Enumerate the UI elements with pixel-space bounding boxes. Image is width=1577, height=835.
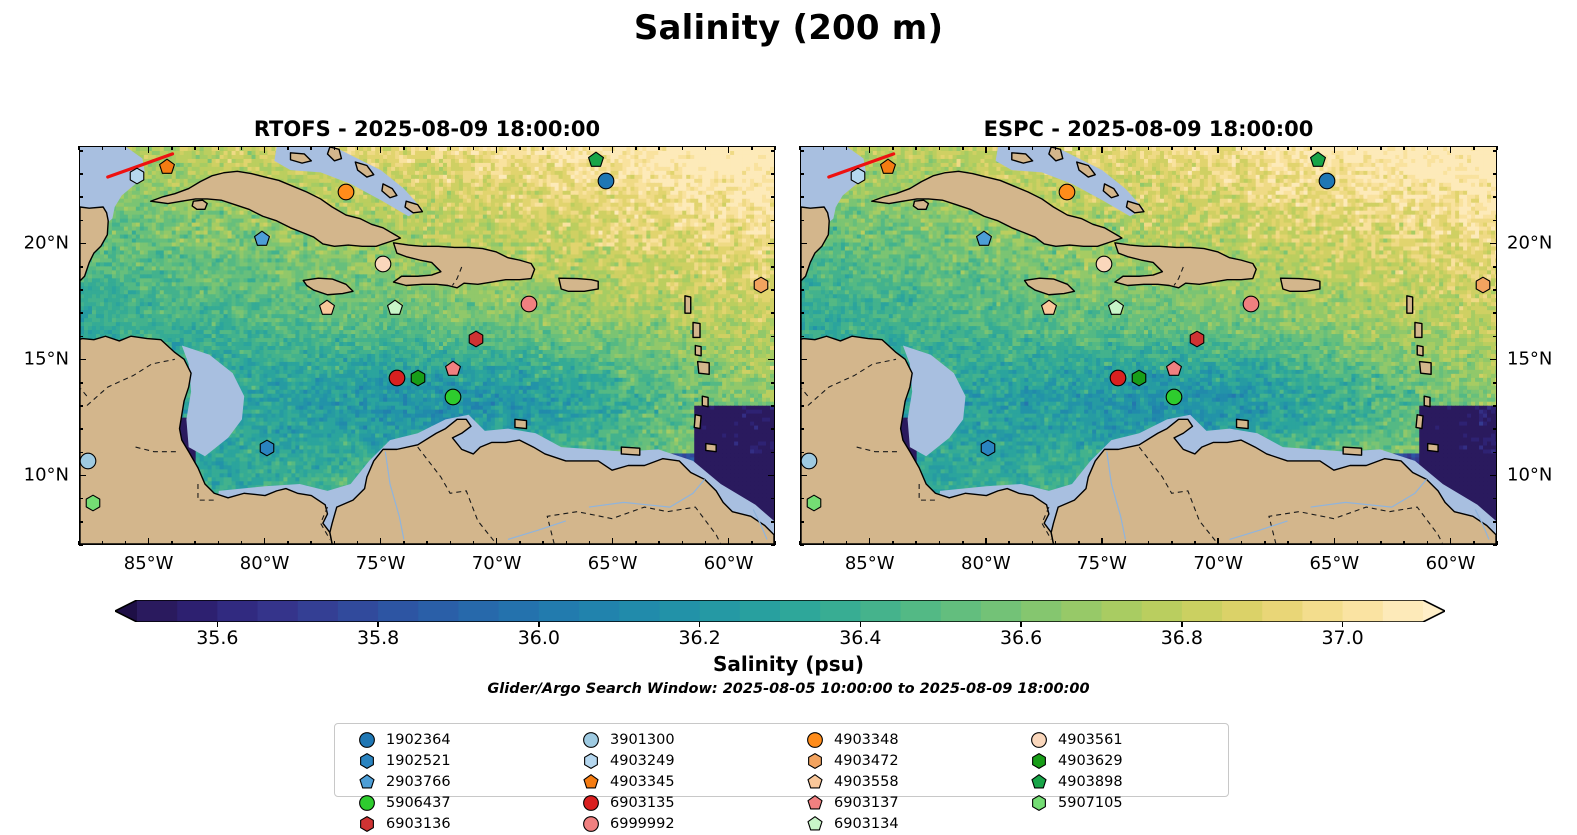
- lat-minor-tick: [79, 382, 83, 384]
- legend-label: 6903134: [834, 817, 899, 832]
- float-marker-6903136[interactable]: [1189, 330, 1206, 347]
- legend-label: 4903561: [1058, 733, 1123, 748]
- lon-minor-tick: [102, 146, 104, 150]
- float-marker-6999992[interactable]: [521, 295, 538, 312]
- lon-minor-tick: [1403, 541, 1405, 545]
- legend-label: 4903472: [834, 754, 899, 769]
- lon-tick: [1217, 538, 1219, 545]
- lon-minor-tick: [473, 146, 475, 150]
- panel-title-rtofs: RTOFS - 2025-08-09 18:00:00: [79, 117, 775, 141]
- lon-tick-label: 75°W: [1077, 553, 1127, 574]
- legend-label: 6903137: [834, 796, 899, 811]
- lat-minor-tick: [1493, 312, 1497, 314]
- lat-minor-tick: [79, 220, 83, 222]
- lon-minor-tick: [125, 146, 127, 150]
- lon-minor-tick: [125, 541, 127, 545]
- lat-minor-tick: [800, 544, 804, 546]
- lon-minor-tick: [310, 541, 312, 545]
- float-marker-4903249[interactable]: [850, 168, 867, 185]
- lon-tick: [380, 538, 382, 545]
- lat-minor-tick: [79, 428, 83, 430]
- lon-tick: [985, 538, 987, 545]
- lat-minor-tick: [1493, 196, 1497, 198]
- lat-minor-tick: [800, 220, 804, 222]
- legend-item-6903135[interactable]: 6903135: [569, 795, 793, 813]
- lon-tick: [496, 146, 498, 153]
- colorbar-label: Salinity (psu): [0, 652, 1577, 676]
- lon-minor-tick: [1403, 146, 1405, 150]
- lon-tick: [496, 538, 498, 545]
- legend-marker-circle-icon: [583, 816, 601, 834]
- legend-marker-hexagon-icon: [359, 816, 377, 834]
- lon-minor-tick: [218, 541, 220, 545]
- lat-tick: [79, 359, 86, 361]
- lat-tick: [800, 243, 807, 245]
- lon-minor-tick: [1194, 541, 1196, 545]
- lon-minor-tick: [473, 541, 475, 545]
- lon-minor-tick: [589, 541, 591, 545]
- legend-marker-circle-icon: [583, 795, 601, 813]
- legend-item-4903629[interactable]: 4903629: [1017, 753, 1241, 771]
- legend-label: 6999992: [610, 817, 675, 832]
- lon-tick: [1450, 146, 1452, 153]
- float-marker-6903134[interactable]: [386, 300, 403, 317]
- legend-label: 4903558: [834, 775, 899, 790]
- lon-tick-label: 65°W: [588, 553, 638, 574]
- lon-minor-tick: [241, 146, 243, 150]
- legend-item-4903249[interactable]: 4903249: [569, 753, 793, 771]
- lon-tick-label: 70°W: [472, 553, 522, 574]
- float-marker-4903561[interactable]: [1096, 256, 1113, 273]
- colorbar-tick-label: 35.6: [196, 627, 238, 649]
- lon-minor-tick: [287, 146, 289, 150]
- lat-minor-tick: [79, 150, 83, 152]
- legend-item-4903561[interactable]: 4903561: [1017, 732, 1241, 750]
- lon-minor-tick: [939, 146, 941, 150]
- lon-minor-tick: [1287, 541, 1289, 545]
- legend-item-5906437[interactable]: 5906437: [345, 795, 569, 813]
- legend-item-6903137[interactable]: 6903137: [793, 795, 1017, 813]
- legend-item-6999992[interactable]: 6999992: [569, 816, 793, 834]
- lon-minor-tick: [519, 146, 521, 150]
- map-canvas-rtofs: [80, 147, 774, 544]
- lat-minor-tick: [800, 428, 804, 430]
- legend-label: 4903345: [610, 775, 675, 790]
- lon-tick: [869, 538, 871, 545]
- lon-minor-tick: [846, 541, 848, 545]
- lon-minor-tick: [1008, 146, 1010, 150]
- lat-minor-tick: [79, 289, 83, 291]
- lon-tick: [728, 538, 730, 545]
- map-canvas-espc: [801, 147, 1496, 544]
- float-marker-4903345[interactable]: [880, 158, 897, 175]
- lat-minor-tick: [800, 382, 804, 384]
- float-marker-6903135[interactable]: [388, 369, 405, 386]
- lon-minor-tick: [915, 146, 917, 150]
- float-marker-4903348[interactable]: [337, 184, 354, 201]
- legend-marker-circle-icon: [1031, 732, 1049, 750]
- colorbar-tick-label: 36.0: [518, 627, 560, 649]
- float-marker-1902521[interactable]: [980, 439, 997, 456]
- legend-label: 6903136: [386, 817, 451, 832]
- lat-minor-tick: [800, 521, 804, 523]
- lat-tick-label-right: 15°N: [1507, 349, 1552, 370]
- lat-tick: [800, 359, 807, 361]
- lat-minor-tick: [79, 336, 83, 338]
- lon-tick-label: 75°W: [356, 553, 406, 574]
- colorbar[interactable]: [115, 600, 1445, 622]
- lon-minor-tick: [426, 541, 428, 545]
- legend-item-6903136[interactable]: 6903136: [345, 816, 569, 834]
- lat-minor-tick: [1493, 521, 1497, 523]
- lon-minor-tick: [1357, 541, 1359, 545]
- lon-tick: [1101, 146, 1103, 153]
- lon-minor-tick: [1055, 541, 1057, 545]
- lon-tick: [1217, 146, 1219, 153]
- lon-minor-tick: [892, 146, 894, 150]
- lon-minor-tick: [218, 146, 220, 150]
- lon-minor-tick: [635, 146, 637, 150]
- float-marker-6903136[interactable]: [467, 330, 484, 347]
- float-marker-4903345[interactable]: [159, 158, 176, 175]
- legend-item-4903348[interactable]: 4903348: [793, 732, 1017, 750]
- float-marker-6903134[interactable]: [1107, 300, 1124, 317]
- lat-tick: [79, 475, 86, 477]
- lon-minor-tick: [542, 541, 544, 545]
- lat-minor-tick: [79, 196, 83, 198]
- lon-tick: [1101, 538, 1103, 545]
- legend-label: 2903766: [386, 775, 451, 790]
- legend-label: 5907105: [1058, 796, 1123, 811]
- lat-minor-tick: [800, 196, 804, 198]
- lon-minor-tick: [194, 541, 196, 545]
- lon-tick: [612, 538, 614, 545]
- legend-label: 4903249: [610, 754, 675, 769]
- lon-minor-tick: [1078, 146, 1080, 150]
- figure-title: Salinity (200 m): [0, 8, 1577, 48]
- lat-minor-tick: [800, 405, 804, 407]
- float-marker-4903348[interactable]: [1059, 184, 1076, 201]
- legend-marker-pentagon-icon: [807, 816, 825, 834]
- lon-minor-tick: [892, 541, 894, 545]
- lon-minor-tick: [962, 541, 964, 545]
- lon-minor-tick: [939, 541, 941, 545]
- lon-minor-tick: [403, 146, 405, 150]
- lon-minor-tick: [1427, 541, 1429, 545]
- lat-tick: [1490, 475, 1497, 477]
- float-marker-1902364[interactable]: [1319, 172, 1336, 189]
- float-marker-4903249[interactable]: [129, 168, 146, 185]
- float-marker-4903629[interactable]: [1131, 369, 1148, 386]
- lat-minor-tick: [79, 405, 83, 407]
- lat-tick-label-right: 20°N: [1507, 233, 1552, 254]
- lon-tick: [869, 146, 871, 153]
- lat-minor-tick: [1493, 428, 1497, 430]
- lon-minor-tick: [287, 541, 289, 545]
- legend-item-4903472[interactable]: 4903472: [793, 753, 1017, 771]
- lon-minor-tick: [171, 146, 173, 150]
- lat-tick: [768, 359, 775, 361]
- legend-label: 3901300: [610, 733, 675, 748]
- legend-marker-hexagon-icon: [583, 753, 601, 771]
- lon-minor-tick: [1008, 541, 1010, 545]
- lon-minor-tick: [102, 541, 104, 545]
- lat-minor-tick: [1493, 498, 1497, 500]
- lon-minor-tick: [846, 146, 848, 150]
- colorbar-tick-label: 36.4: [839, 627, 881, 649]
- legend-label: 4903348: [834, 733, 899, 748]
- lat-minor-tick: [1493, 452, 1497, 454]
- lon-tick: [148, 146, 150, 153]
- lat-minor-tick: [800, 266, 804, 268]
- lon-minor-tick: [1171, 541, 1173, 545]
- legend-label: 5906437: [386, 796, 451, 811]
- lat-minor-tick: [771, 405, 775, 407]
- float-marker-5907105[interactable]: [805, 495, 822, 512]
- legend-marker-circle-icon: [807, 732, 825, 750]
- lat-minor-tick: [800, 150, 804, 152]
- colorbar-tick-label: 36.8: [1161, 627, 1203, 649]
- legend-marker-circle-icon: [359, 732, 377, 750]
- float-marker-4903561[interactable]: [374, 256, 391, 273]
- lon-tick: [380, 146, 382, 153]
- lat-minor-tick: [771, 521, 775, 523]
- panel-title-espc: ESPC - 2025-08-09 18:00:00: [800, 117, 1497, 141]
- lon-minor-tick: [915, 541, 917, 545]
- lon-minor-tick: [1310, 146, 1312, 150]
- lon-tick-label: 85°W: [845, 553, 895, 574]
- lon-minor-tick: [635, 541, 637, 545]
- lon-minor-tick: [194, 146, 196, 150]
- float-marker-5907105[interactable]: [84, 495, 101, 512]
- lat-minor-tick: [800, 173, 804, 175]
- lon-tick: [264, 538, 266, 545]
- search-window-text: Glider/Argo Search Window: 2025-08-05 10…: [0, 681, 1577, 697]
- lat-minor-tick: [771, 336, 775, 338]
- lon-tick: [985, 146, 987, 153]
- lon-tick-label: 70°W: [1193, 553, 1243, 574]
- lon-minor-tick: [1194, 146, 1196, 150]
- lon-minor-tick: [1148, 541, 1150, 545]
- lat-minor-tick: [771, 452, 775, 454]
- lat-minor-tick: [79, 173, 83, 175]
- lat-tick: [1490, 359, 1497, 361]
- float-marker-4903898[interactable]: [588, 151, 605, 168]
- lon-minor-tick: [334, 146, 336, 150]
- lon-minor-tick: [1032, 146, 1034, 150]
- legend-marker-hexagon-icon: [359, 753, 377, 771]
- lat-minor-tick: [771, 312, 775, 314]
- lon-minor-tick: [1125, 541, 1127, 545]
- colorbar-tick-label: 36.6: [1000, 627, 1042, 649]
- float-marker-4903472[interactable]: [1475, 277, 1492, 294]
- lon-minor-tick: [1171, 146, 1173, 150]
- colorbar-tick-label: 37.0: [1321, 627, 1363, 649]
- lon-minor-tick: [1125, 146, 1127, 150]
- lon-minor-tick: [658, 146, 660, 150]
- lat-minor-tick: [771, 382, 775, 384]
- legend-label: 6903135: [610, 796, 675, 811]
- lon-minor-tick: [589, 146, 591, 150]
- float-marker-2903766[interactable]: [254, 230, 271, 247]
- lon-minor-tick: [658, 541, 660, 545]
- lat-minor-tick: [771, 289, 775, 291]
- lat-tick: [768, 243, 775, 245]
- lon-minor-tick: [1055, 146, 1057, 150]
- lat-minor-tick: [79, 312, 83, 314]
- legend-marker-circle-icon: [583, 732, 601, 750]
- lon-tick-label: 80°W: [961, 553, 1011, 574]
- lon-minor-tick: [334, 541, 336, 545]
- lon-minor-tick: [357, 146, 359, 150]
- lat-minor-tick: [1493, 150, 1497, 152]
- lon-minor-tick: [1310, 541, 1312, 545]
- lon-tick: [264, 146, 266, 153]
- lon-minor-tick: [450, 541, 452, 545]
- lon-minor-tick: [682, 541, 684, 545]
- lon-tick-label: 85°W: [124, 553, 174, 574]
- lat-tick-label-left: 10°N: [24, 465, 69, 486]
- lon-tick-label: 65°W: [1310, 553, 1360, 574]
- legend: 1902364390130049033484903561190252149032…: [334, 723, 1229, 797]
- legend-item-4903558[interactable]: 4903558: [793, 774, 1017, 792]
- lat-minor-tick: [771, 428, 775, 430]
- lat-minor-tick: [79, 498, 83, 500]
- lon-minor-tick: [962, 146, 964, 150]
- lon-tick-label: 60°W: [1426, 553, 1476, 574]
- float-marker-4903629[interactable]: [409, 369, 426, 386]
- legend-label: 4903629: [1058, 754, 1123, 769]
- lon-minor-tick: [1357, 146, 1359, 150]
- float-marker-6903135[interactable]: [1110, 369, 1127, 386]
- lat-minor-tick: [1493, 544, 1497, 546]
- float-marker-5906437[interactable]: [1166, 388, 1183, 405]
- lat-tick: [79, 243, 86, 245]
- lat-minor-tick: [1493, 289, 1497, 291]
- lat-tick: [1490, 243, 1497, 245]
- lon-minor-tick: [1473, 541, 1475, 545]
- legend-marker-hexagon-icon: [1031, 753, 1049, 771]
- lat-minor-tick: [771, 266, 775, 268]
- lat-minor-tick: [800, 498, 804, 500]
- lat-minor-tick: [79, 521, 83, 523]
- lon-minor-tick: [1148, 146, 1150, 150]
- lat-minor-tick: [79, 544, 83, 546]
- legend-marker-hexagon-icon: [1031, 795, 1049, 813]
- lon-minor-tick: [566, 541, 568, 545]
- lon-minor-tick: [241, 541, 243, 545]
- legend-item-1902364[interactable]: 1902364: [345, 732, 569, 750]
- lat-minor-tick: [771, 196, 775, 198]
- legend-item-3901300[interactable]: 3901300: [569, 732, 793, 750]
- float-marker-6903137[interactable]: [444, 360, 461, 377]
- lon-tick: [612, 146, 614, 153]
- lon-tick: [148, 538, 150, 545]
- lon-tick: [1450, 538, 1452, 545]
- float-marker-6903137[interactable]: [1166, 360, 1183, 377]
- lon-minor-tick: [519, 541, 521, 545]
- lat-minor-tick: [800, 312, 804, 314]
- lon-minor-tick: [1032, 541, 1034, 545]
- lon-minor-tick: [823, 146, 825, 150]
- float-marker-4903472[interactable]: [753, 277, 770, 294]
- lon-minor-tick: [823, 541, 825, 545]
- legend-item-6903134[interactable]: 6903134: [793, 816, 1017, 834]
- lat-minor-tick: [771, 150, 775, 152]
- map-panel-rtofs[interactable]: [79, 146, 775, 545]
- lon-minor-tick: [171, 541, 173, 545]
- lon-minor-tick: [1427, 146, 1429, 150]
- lat-tick-label-left: 20°N: [24, 233, 69, 254]
- legend-label: 1902521: [386, 754, 451, 769]
- lat-minor-tick: [771, 173, 775, 175]
- lat-tick-label-right: 10°N: [1507, 465, 1552, 486]
- legend-item-2903766[interactable]: 2903766: [345, 774, 569, 792]
- map-panel-espc[interactable]: [800, 146, 1497, 545]
- lon-minor-tick: [426, 146, 428, 150]
- legend-marker-pentagon-icon: [1031, 774, 1049, 792]
- legend-label: 4903898: [1058, 775, 1123, 790]
- float-marker-3901300[interactable]: [80, 453, 97, 470]
- float-marker-1902521[interactable]: [258, 439, 275, 456]
- lon-minor-tick: [542, 146, 544, 150]
- lon-minor-tick: [1264, 541, 1266, 545]
- legend-item-4903345[interactable]: 4903345: [569, 774, 793, 792]
- colorbar-tick-label: 35.8: [357, 627, 399, 649]
- lon-minor-tick: [705, 541, 707, 545]
- lon-minor-tick: [682, 146, 684, 150]
- lat-minor-tick: [771, 544, 775, 546]
- colorbar-tick-label: 36.2: [678, 627, 720, 649]
- float-marker-3901300[interactable]: [801, 453, 818, 470]
- float-marker-5906437[interactable]: [444, 388, 461, 405]
- lon-tick: [1334, 146, 1336, 153]
- lon-tick: [728, 146, 730, 153]
- lon-minor-tick: [357, 541, 359, 545]
- float-marker-1902364[interactable]: [597, 172, 614, 189]
- lon-minor-tick: [1241, 541, 1243, 545]
- lon-tick-label: 80°W: [240, 553, 290, 574]
- lat-minor-tick: [1493, 220, 1497, 222]
- lat-tick: [768, 475, 775, 477]
- legend-item-1902521[interactable]: 1902521: [345, 753, 569, 771]
- legend-item-5907105[interactable]: 5907105: [1017, 795, 1241, 813]
- float-marker-4903558[interactable]: [1040, 300, 1057, 317]
- lon-minor-tick: [450, 146, 452, 150]
- lat-minor-tick: [1493, 266, 1497, 268]
- lon-minor-tick: [1241, 146, 1243, 150]
- lon-minor-tick: [310, 146, 312, 150]
- float-marker-4903898[interactable]: [1310, 151, 1327, 168]
- legend-marker-pentagon-icon: [807, 774, 825, 792]
- float-marker-4903558[interactable]: [319, 300, 336, 317]
- legend-grid: 1902364390130049033484903561190252149032…: [345, 730, 1241, 835]
- lat-minor-tick: [1493, 405, 1497, 407]
- float-marker-2903766[interactable]: [975, 230, 992, 247]
- legend-item-4903898[interactable]: 4903898: [1017, 774, 1241, 792]
- lat-minor-tick: [79, 266, 83, 268]
- lat-tick-label-left: 15°N: [24, 349, 69, 370]
- lat-tick: [800, 475, 807, 477]
- float-marker-6999992[interactable]: [1242, 295, 1259, 312]
- legend-marker-pentagon-icon: [359, 774, 377, 792]
- legend-marker-hexagon-icon: [807, 753, 825, 771]
- lon-minor-tick: [1287, 146, 1289, 150]
- legend-marker-circle-icon: [359, 795, 377, 813]
- figure-root: Salinity (200 m) RTOFS - 2025-08-09 18:0…: [0, 0, 1577, 827]
- lon-minor-tick: [751, 146, 753, 150]
- lat-minor-tick: [771, 220, 775, 222]
